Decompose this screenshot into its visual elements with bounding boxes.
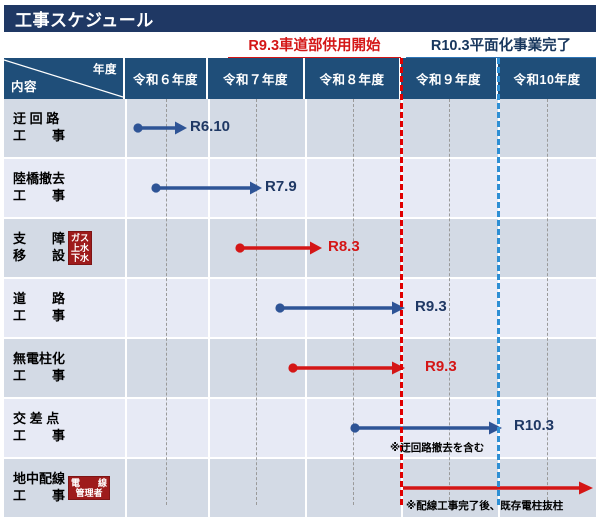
column-header-r6: 令和６年度 — [125, 58, 208, 99]
table-corner-cell: 年度 内容 — [4, 58, 125, 99]
year-guide-r6 — [166, 99, 167, 505]
milestone-line-project-complete — [497, 58, 500, 505]
row-label-road-work: 道 路 工 事 — [4, 279, 125, 337]
row-label-line: 交 差 点 — [13, 411, 65, 428]
table-row: 陸橋撤去 工 事 — [4, 159, 596, 217]
bar-label-utility-pole-removal: R9.3 — [425, 358, 457, 375]
badge-line: 上水 — [71, 243, 89, 253]
column-header-r8: 令和８年度 — [305, 58, 401, 99]
table-row: 迂 回 路 工 事 — [4, 99, 596, 157]
bar-utility-pole-removal — [288, 360, 412, 376]
schedule-table: 年度 内容 令和６年度 令和７年度 令和８年度 令和９年度 令和10年度 迂 回… — [4, 58, 596, 505]
badge-line: 管理者 — [76, 488, 103, 498]
page-title-bar: 工事スケジュール — [4, 5, 596, 32]
table-header-row: 年度 内容 令和６年度 令和７年度 令和８年度 令和９年度 令和10年度 — [4, 58, 596, 99]
row-label-line: 道 路 — [13, 291, 65, 308]
schedule-page: 工事スケジュール R9.3車道部供用開始 R10.3平面化事業完了 年度 内容 … — [0, 0, 600, 509]
row-badge-electric-manager: 電 線 管理者 — [68, 476, 110, 500]
milestone-label-project-complete: R10.3平面化事業完了 — [406, 34, 596, 59]
row-label-line: 工 事 — [13, 488, 65, 505]
corner-label-year: 年度 — [93, 61, 117, 77]
bar-note-intersection-work: ※迂回路撤去を含む — [390, 440, 484, 455]
row-label-line: 工 事 — [13, 308, 65, 325]
row-label-utility-pole-removal: 無電柱化 工 事 — [4, 339, 125, 397]
column-header-r9: 令和９年度 — [401, 58, 498, 99]
row-label-intersection-work: 交 差 点 工 事 — [4, 399, 125, 457]
corner-label-content: 内容 — [11, 76, 37, 95]
badge-line: 下水 — [71, 253, 89, 263]
row-label-underground-wiring: 地中配線 工 事 電 線 管理者 — [4, 459, 125, 517]
bar-label-road-work: R9.3 — [415, 298, 447, 315]
milestone-line-road-open — [400, 58, 403, 505]
bar-detour-work — [133, 120, 193, 136]
row-label-line: 無電柱化 — [13, 351, 65, 368]
badge-line: 電 線 — [71, 478, 107, 488]
row-label-line: 工 事 — [13, 368, 65, 385]
row-label-overpass-removal: 陸橋撤去 工 事 — [4, 159, 125, 217]
row-label-line: 工 事 — [13, 188, 65, 205]
year-guide-r10 — [547, 99, 548, 505]
year-guide-r7 — [256, 99, 257, 505]
bar-road-work — [275, 300, 411, 316]
page-title: 工事スケジュール — [4, 6, 154, 31]
row-label-line: 迂 回 路 — [13, 111, 65, 128]
badge-line: ガス — [71, 233, 89, 243]
row-label-utility-relocation: 支 障 移 設 ガス 上水 下水 — [4, 219, 125, 277]
bar-label-utility-relocation: R8.3 — [328, 238, 360, 255]
row-label-line: 支 障 — [13, 231, 65, 248]
table-body: 迂 回 路 工 事 陸橋撤去 工 事 — [4, 99, 596, 505]
bar-utility-relocation — [235, 240, 329, 256]
row-label-detour-work: 迂 回 路 工 事 — [4, 99, 125, 157]
row-label-line: 工 事 — [13, 128, 65, 145]
row-label-line: 陸橋撤去 — [13, 171, 65, 188]
bar-note-underground-wiring: ※配線工事完了後、既存電柱抜柱 — [406, 498, 563, 513]
row-label-line: 地中配線 — [13, 471, 65, 488]
bar-label-overpass-removal: R7.9 — [265, 178, 297, 195]
row-badge-utilities: ガス 上水 下水 — [68, 231, 92, 265]
bar-intersection-work — [350, 420, 508, 436]
bar-overpass-removal — [151, 180, 269, 196]
column-header-r10: 令和10年度 — [498, 58, 596, 99]
milestone-label-road-open: R9.3車道部供用開始 — [228, 34, 401, 59]
bar-label-intersection-work: R10.3 — [514, 417, 554, 434]
bar-label-detour-work: R6.10 — [190, 118, 230, 135]
row-label-line: 工 事 — [13, 428, 65, 445]
row-label-line: 移 設 — [13, 248, 65, 265]
column-header-r7: 令和７年度 — [208, 58, 305, 99]
